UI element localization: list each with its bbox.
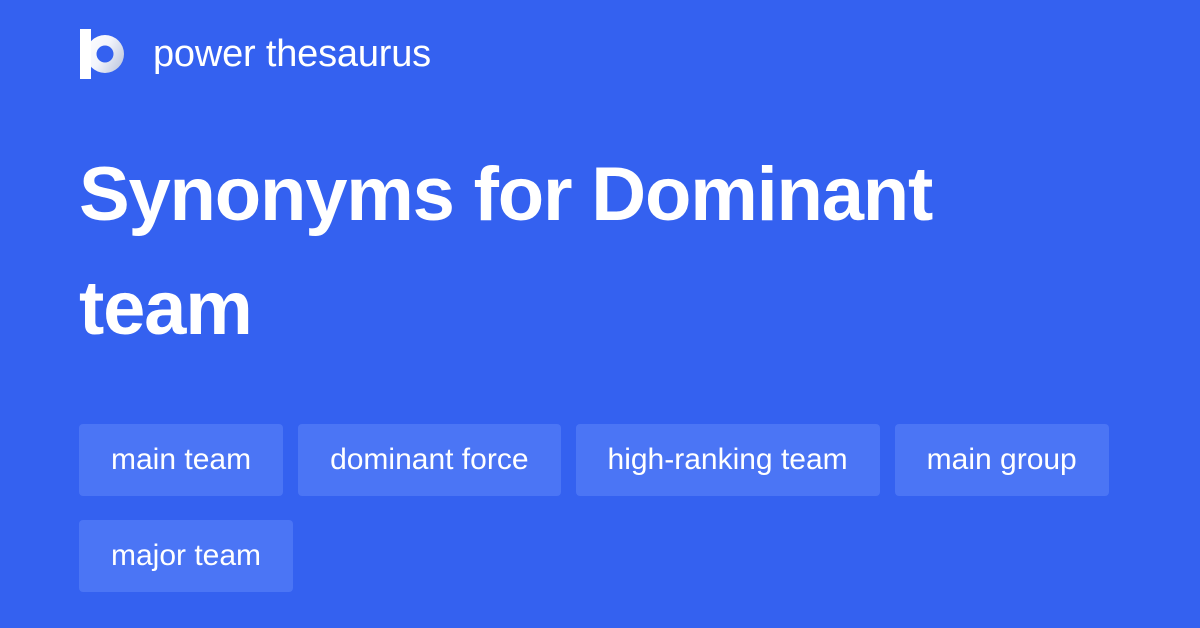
brand-name: power thesaurus [153, 35, 431, 73]
synonym-tag[interactable]: high-ranking team [576, 424, 880, 496]
synonym-tag[interactable]: main group [895, 424, 1109, 496]
power-thesaurus-b-logo-icon [79, 28, 131, 80]
page-title: Synonyms for Dominant team [79, 138, 1039, 366]
share-card: power thesaurus Synonyms for Dominant te… [0, 0, 1200, 628]
brand-logo[interactable]: power thesaurus [79, 28, 431, 80]
synonym-tag-list: main team dominant force high-ranking te… [79, 424, 1119, 592]
synonym-tag[interactable]: dominant force [298, 424, 560, 496]
synonym-tag[interactable]: main team [79, 424, 283, 496]
synonym-tag[interactable]: major team [79, 520, 293, 592]
